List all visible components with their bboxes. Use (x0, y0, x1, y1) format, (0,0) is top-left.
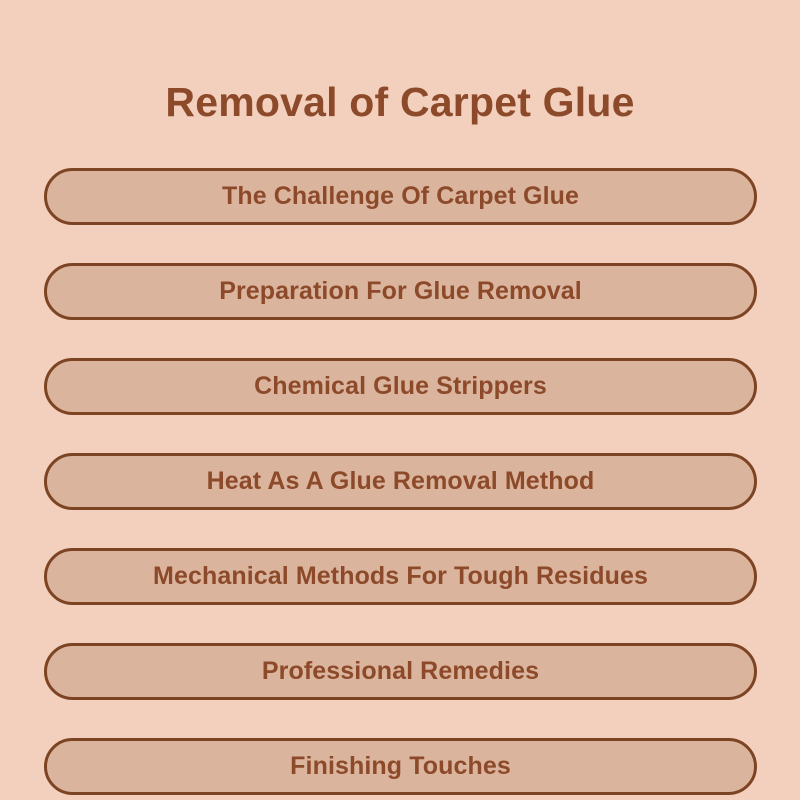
topic-list: The Challenge Of Carpet Glue Preparation… (44, 168, 757, 795)
poster-canvas: Removal of Carpet Glue The Challenge Of … (0, 0, 800, 800)
list-item[interactable]: Heat As A Glue Removal Method (44, 453, 757, 510)
list-item-label: Mechanical Methods For Tough Residues (153, 564, 648, 589)
list-item-label: Heat As A Glue Removal Method (207, 469, 595, 494)
list-item[interactable]: The Challenge Of Carpet Glue (44, 168, 757, 225)
list-item-label: Professional Remedies (262, 659, 539, 684)
list-item[interactable]: Mechanical Methods For Tough Residues (44, 548, 757, 605)
list-item-label: Finishing Touches (290, 754, 511, 779)
list-item-label: Chemical Glue Strippers (254, 374, 547, 399)
list-item[interactable]: Chemical Glue Strippers (44, 358, 757, 415)
list-item[interactable]: Preparation For Glue Removal (44, 263, 757, 320)
list-item[interactable]: Professional Remedies (44, 643, 757, 700)
list-item-label: Preparation For Glue Removal (219, 279, 582, 304)
list-item-label: The Challenge Of Carpet Glue (222, 184, 579, 209)
list-item[interactable]: Finishing Touches (44, 738, 757, 795)
page-title: Removal of Carpet Glue (0, 79, 800, 126)
